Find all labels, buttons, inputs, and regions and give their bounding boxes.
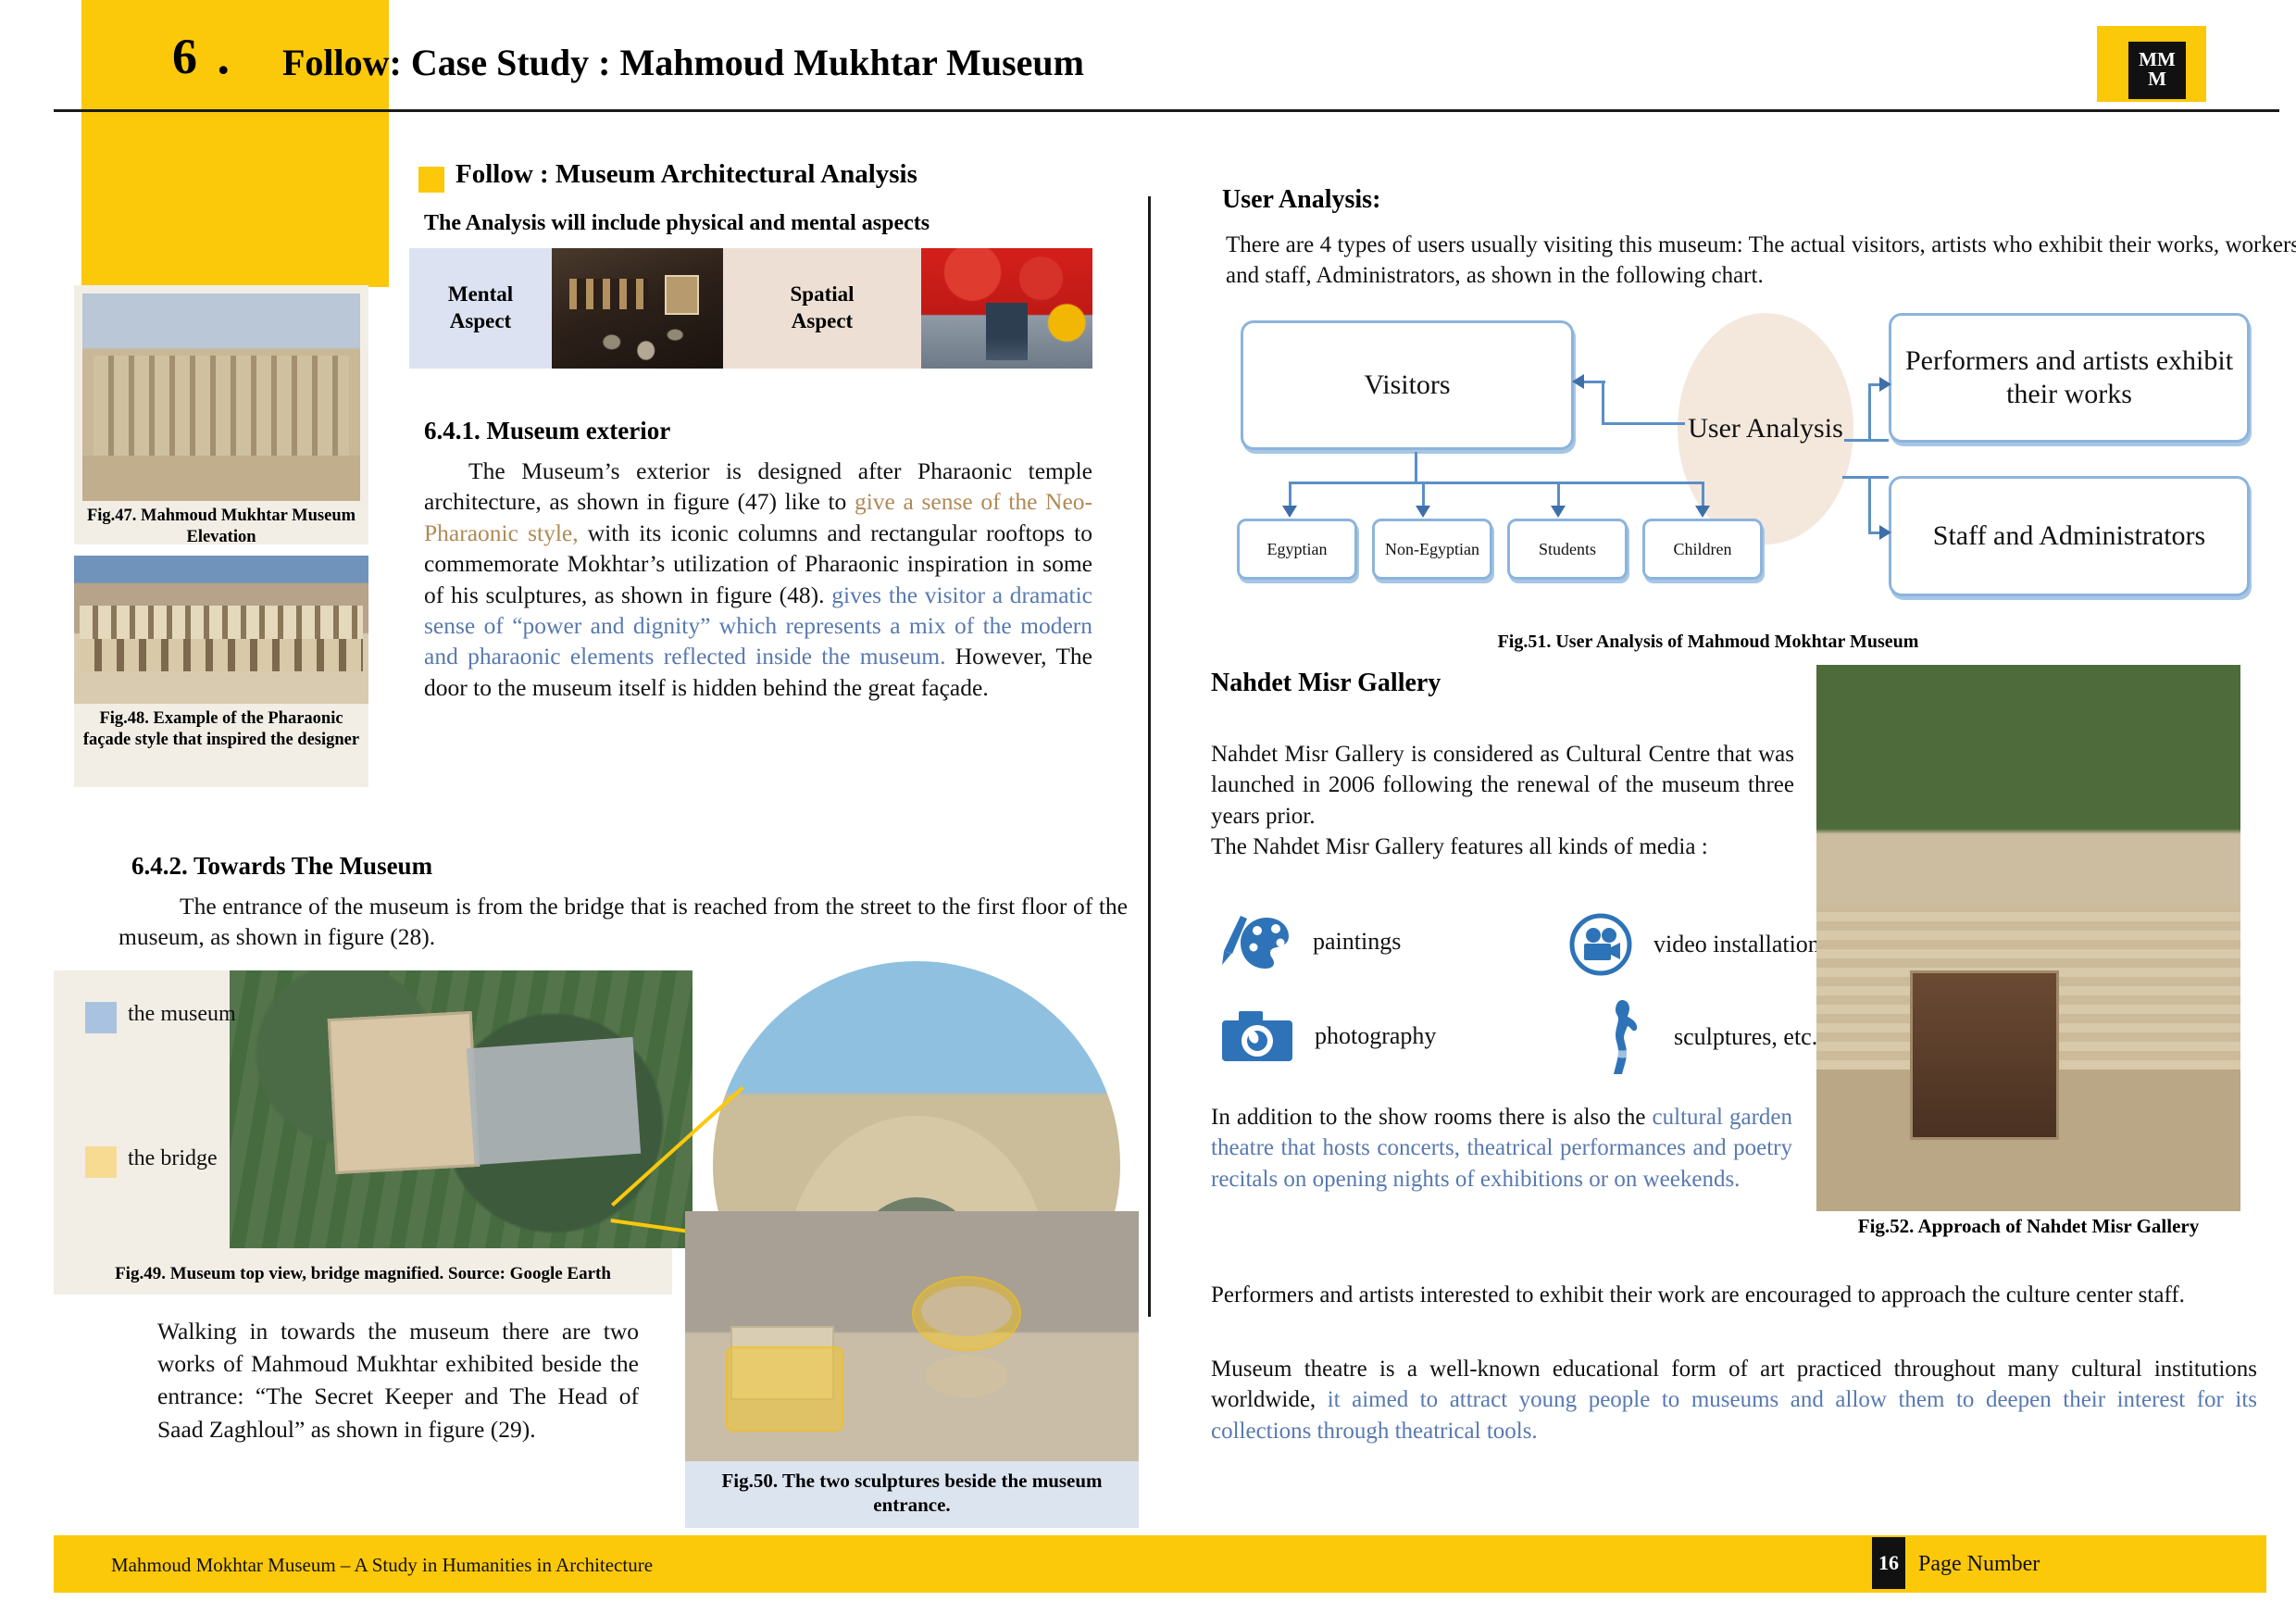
heading-6-4-1: 6.4.1. Museum exterior xyxy=(424,417,670,445)
media-item-photography: photography xyxy=(1220,1007,1436,1065)
bullet-square-icon xyxy=(418,167,444,193)
palette-icon xyxy=(1220,912,1292,971)
legend-label-bridge: the bridge xyxy=(128,1146,218,1172)
figure-50-caption: Fig.50. The two sculptures beside the mu… xyxy=(685,1461,1139,1521)
closing-blue: it aimed to attract young people to muse… xyxy=(1211,1387,2257,1443)
media-label-video: video installation xyxy=(1653,931,1820,958)
aspect-mental-line1: Mental xyxy=(448,282,513,308)
diagram-arrow-egyptian xyxy=(1282,506,1297,518)
legend-item-bridge: the bridge xyxy=(85,1146,218,1178)
figure-47-image xyxy=(82,294,360,501)
figure-47-caption: Fig.47. Mahmoud Mukhtar Museum Elevation xyxy=(74,501,368,552)
sculpt-highlight-left xyxy=(726,1346,843,1432)
legend-label-museum: the museum xyxy=(128,1002,236,1028)
paragraph-museum-exterior: The Museum’s exterior is designed after … xyxy=(424,456,1092,703)
diagram-box-performers: Performers and artists exhibit their wor… xyxy=(1889,313,2250,443)
diagram-line-visitors-down xyxy=(1415,452,1417,483)
paragraph-closing-2: Museum theatre is a well-known education… xyxy=(1211,1354,2257,1446)
figure-49-topview-image xyxy=(230,970,693,1248)
figure-49-caption: Fig.49. Museum top view, bridge magnifie… xyxy=(54,1256,672,1289)
left-column: Follow : Museum Architectural Analysis T… xyxy=(0,0,1157,1482)
figure-50-image xyxy=(685,1211,1139,1461)
aspect-spatial-line1: Spatial xyxy=(790,282,854,308)
media-label-photography: photography xyxy=(1315,1022,1436,1050)
show-rooms-black: In addition to the show rooms there is a… xyxy=(1211,1105,1653,1130)
diagram-arrow-children xyxy=(1695,506,1710,518)
paragraph-show-rooms: In addition to the show rooms there is a… xyxy=(1211,1102,1792,1195)
diagram-line-ellipse-staff-h xyxy=(1842,476,1889,479)
legend-swatch-museum xyxy=(85,1002,117,1033)
aspect-mental-label: Mental Aspect xyxy=(409,248,552,369)
logo-mmm: MM M xyxy=(2128,42,2186,99)
diagram-ellipse-label: User Analysis xyxy=(1688,412,1843,445)
section-heading-follow-analysis: Follow : Museum Architectural Analysis xyxy=(455,159,917,190)
paragraph-user-analysis: There are 4 types of users usually visit… xyxy=(1226,230,2296,292)
media-item-paintings: paintings xyxy=(1220,912,1401,971)
diagram-arrow-to-visitors xyxy=(1572,374,1584,389)
diagram-arrow-to-staff xyxy=(1879,525,1891,540)
camera-icon xyxy=(1220,1007,1294,1065)
document-page: 6 . Follow: Case Study : Mahmoud Mukhtar… xyxy=(0,0,2296,1614)
aspect-spatial-label: Spatial Aspect xyxy=(723,248,921,369)
diagram-line-ellipse-staff-v xyxy=(1868,476,1871,533)
diagram-arrow-to-performers xyxy=(1879,377,1891,392)
mental-aspect-photo xyxy=(552,248,723,369)
diagram-line-ellipse-visitors-h xyxy=(1602,422,1685,425)
figure-52-caption: Fig.52. Approach of Nahdet Misr Gallery xyxy=(1816,1215,2240,1238)
column-divider xyxy=(1148,196,1151,1317)
figure-48-card: Fig.48. Example of the Pharaonic façade … xyxy=(74,556,368,787)
diagram-box-staff: Staff and Administrators xyxy=(1889,476,2250,596)
diagram-line-ellipse-performers-v xyxy=(1868,383,1871,441)
diagram-box-students: Students xyxy=(1507,519,1628,580)
media-item-video: video installation xyxy=(1568,912,1820,977)
figure-49-caption-bar: Fig.49. Museum top view, bridge magnifie… xyxy=(54,1256,672,1295)
heading-nahdet-misr-gallery: Nahdet Misr Gallery xyxy=(1211,669,1441,698)
diagram-line-ellipse-visitors-v xyxy=(1602,382,1604,424)
paragraph-walking-towards: Walking in towards the museum there are … xyxy=(157,1315,639,1445)
diagram-box-non-egyptian: Non-Egyptian xyxy=(1372,519,1492,580)
diagram-line-visitors-arrowstem xyxy=(1581,381,1605,383)
paragraph-closing-1: Performers and artists interested to exh… xyxy=(1211,1280,2257,1310)
aspect-spatial-line2: Aspect xyxy=(792,308,853,335)
figure-50-caption-box: Fig.50. The two sculptures beside the mu… xyxy=(685,1461,1139,1528)
media-item-sculptures: sculptures, etc.. xyxy=(1600,998,1824,1076)
figure-48-image xyxy=(74,556,368,704)
footer-document-title: Mahmoud Mokhtar Museum – A Study in Huma… xyxy=(111,1554,653,1577)
figure-48-caption: Fig.48. Example of the Pharaonic façade … xyxy=(74,704,368,755)
media-label-paintings: paintings xyxy=(1313,928,1401,956)
analysis-intro-line: The Analysis will include physical and m… xyxy=(424,211,930,236)
media-label-sculptures: sculptures, etc.. xyxy=(1674,1023,1824,1051)
diagram-line-ellipse-performers-h xyxy=(1844,439,1889,442)
user-analysis-diagram: Visitors User Analysis Performers and ar… xyxy=(1231,313,2259,591)
paragraph-towards-museum: The entrance of the museum is from the b… xyxy=(119,891,1128,953)
heading-6-4-2: 6.4.2. Towards The Museum xyxy=(131,852,432,881)
diagram-arrow-students xyxy=(1551,506,1566,518)
legend-item-museum: the museum xyxy=(85,1002,236,1033)
aspect-strip: Mental Aspect Spatial Aspect xyxy=(409,248,1105,369)
diagram-box-visitors: Visitors xyxy=(1241,320,1574,450)
figure-47-card: Fig.47. Mahmoud Mukhtar Museum Elevation xyxy=(74,285,368,544)
legend-swatch-bridge xyxy=(85,1146,117,1178)
figure-51-caption: Fig.51. User Analysis of Mahmoud Mokhtar… xyxy=(1426,632,1990,653)
statue-icon xyxy=(1600,998,1646,1076)
diagram-line-visitors-bus xyxy=(1289,482,1703,484)
sculpt-highlight-right xyxy=(912,1276,1021,1351)
paragraph-gallery: Nahdet Misr Gallery is considered as Cul… xyxy=(1211,739,1794,862)
diagram-box-egyptian: Egyptian xyxy=(1237,519,1357,580)
footer-page-label: Page Number xyxy=(1918,1552,2040,1577)
aspect-mental-line2: Aspect xyxy=(450,308,511,335)
diagram-arrow-non-egyptian xyxy=(1416,506,1430,518)
spatial-aspect-photo xyxy=(921,248,1092,369)
figure-52-image xyxy=(1816,665,2240,1211)
page-number-badge: 16 xyxy=(1872,1537,1905,1589)
heading-user-analysis: User Analysis: xyxy=(1222,185,1380,215)
diagram-box-children: Children xyxy=(1642,519,1763,580)
video-camera-icon xyxy=(1568,912,1633,977)
